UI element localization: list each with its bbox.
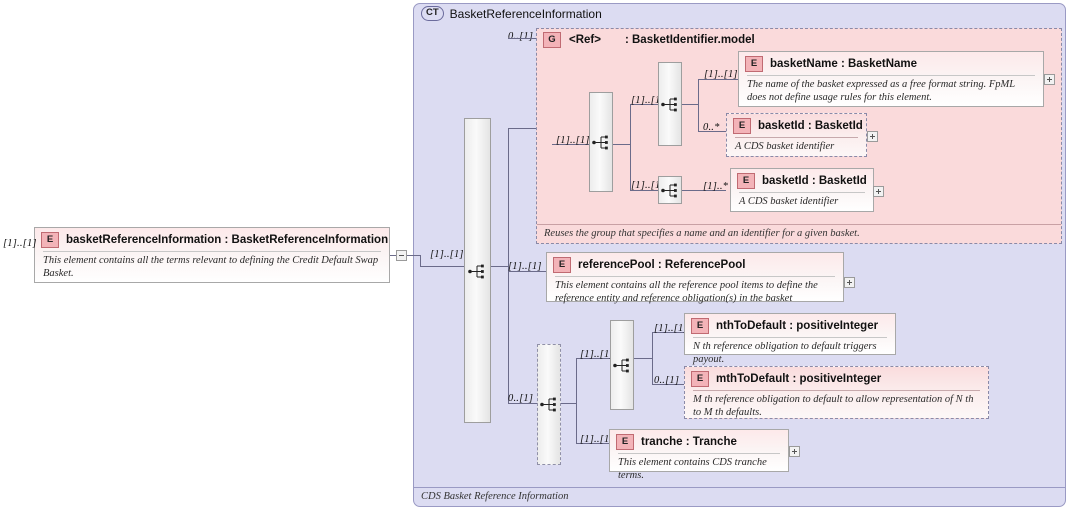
- element-reference-pool[interactable]: E referencePool : ReferencePool This ele…: [546, 252, 844, 302]
- connector-group-trunk: [630, 104, 631, 190]
- connector-choice-top-trunk: [698, 79, 699, 131]
- compositor-choice-bottom[interactable]: [658, 176, 682, 204]
- expand-toggle-tranche[interactable]: [789, 446, 800, 457]
- element-documentation: The name of the basket expressed as a fr…: [747, 75, 1035, 104]
- cardinality-group-sequence: [1]..[1]: [556, 135, 590, 146]
- element-documentation: This element contains all the terms rele…: [43, 251, 381, 280]
- element-documentation: This element contains CDS tranche terms.: [618, 453, 780, 482]
- element-header-row: E basketId : BasketId: [731, 169, 873, 192]
- element-badge-icon: E: [737, 173, 755, 189]
- sequence-icon: [661, 183, 680, 198]
- element-header-row: E mthToDefault : positiveInteger: [685, 367, 988, 390]
- element-basket-id-optional[interactable]: E basketId : BasketId A CDS basket ident…: [726, 113, 867, 157]
- sequence-icon: [613, 358, 632, 373]
- connector-into-main-sequence: [420, 266, 465, 267]
- compositor-group-sequence[interactable]: [589, 92, 613, 192]
- connector-tail-choice-out: [561, 403, 576, 404]
- element-name: tranche : Tranche: [641, 436, 737, 448]
- element-documentation: M th reference obligation to default to …: [693, 390, 980, 419]
- connector-tail-trunk: [576, 358, 577, 443]
- element-header-row: E basketReferenceInformation : BasketRef…: [35, 228, 389, 251]
- element-badge-icon: E: [691, 371, 709, 387]
- complex-type-footer-text: CDS Basket Reference Information: [421, 491, 568, 502]
- complex-type-footer: CDS Basket Reference Information: [414, 487, 1065, 506]
- element-documentation: N th reference obligation to default tri…: [693, 337, 887, 366]
- expand-toggle-basket-id-optional[interactable]: [867, 131, 878, 142]
- connector-choice-top-out: [682, 104, 698, 105]
- group-badge-icon: G: [543, 32, 561, 48]
- element-header-row: E basketId : BasketId: [727, 114, 866, 137]
- element-name: basketId : BasketId: [758, 120, 863, 132]
- connector-main-out: [491, 266, 508, 267]
- compositor-tail-choice[interactable]: [537, 344, 561, 465]
- connector-root-right: [390, 255, 396, 256]
- element-name: basketName : BasketName: [770, 58, 917, 70]
- compositor-choice-top[interactable]: [658, 62, 682, 146]
- element-documentation: A CDS basket identifier: [739, 192, 865, 209]
- connector-group-top: [508, 38, 536, 39]
- element-name: basketReferenceInformation : BasketRefer…: [66, 234, 388, 246]
- cardinality-main-sequence: [1]..[1]: [430, 249, 464, 260]
- cardinality-tail-choice: 0..[1]: [508, 393, 533, 404]
- cardinality-basket-name: [1]..[1]: [704, 69, 738, 80]
- group-type-label: : BasketIdentifier.model: [625, 34, 755, 46]
- element-header-row: E referencePool : ReferencePool: [547, 253, 843, 276]
- group-ref-header: G <Ref> : BasketIdentifier.model: [543, 32, 755, 48]
- element-nth-to-default[interactable]: E nthToDefault : positiveInteger N th re…: [684, 313, 896, 355]
- cardinality-group: 0..[1]: [508, 31, 533, 42]
- group-footer: Reuses the group that specifies a name a…: [537, 224, 1061, 243]
- xsd-diagram-canvas: CT BasketReferenceInformation CDS Basket…: [0, 0, 1070, 510]
- collapse-toggle-root[interactable]: [396, 250, 407, 261]
- element-mth-to-default[interactable]: E mthToDefault : positiveInteger M th re…: [684, 366, 989, 419]
- element-header-row: E basketName : BasketName: [739, 52, 1043, 75]
- cardinality-nth-to-default: [1]..[1]: [654, 323, 688, 334]
- element-header-row: E tranche : Tranche: [610, 430, 788, 453]
- compositor-nth-sequence[interactable]: [610, 320, 634, 410]
- element-badge-icon: E: [745, 56, 763, 72]
- element-name: basketId : BasketId: [762, 175, 867, 187]
- connector-nth-trunk: [652, 332, 653, 384]
- element-tranche[interactable]: E tranche : Tranche This element contain…: [609, 429, 789, 472]
- connector-root-bend: [420, 255, 421, 267]
- expand-toggle-basket-name[interactable]: [1044, 74, 1055, 85]
- element-name: mthToDefault : positiveInteger: [716, 373, 881, 385]
- complex-type-header: CT BasketReferenceInformation: [421, 6, 602, 21]
- element-badge-icon: E: [691, 318, 709, 334]
- complex-type-title: BasketReferenceInformation: [450, 7, 602, 21]
- element-badge-icon: E: [733, 118, 751, 134]
- element-basket-reference-information[interactable]: E basketReferenceInformation : BasketRef…: [34, 227, 390, 283]
- element-name: nthToDefault : positiveInteger: [716, 320, 878, 332]
- cardinality-root: [1]..[1]: [3, 238, 37, 249]
- cardinality-basket-id-required: [1]..*: [703, 181, 728, 192]
- connector-to-group: [508, 128, 536, 129]
- element-badge-icon: E: [616, 434, 634, 450]
- sequence-icon: [468, 264, 487, 279]
- element-documentation: A CDS basket identifier: [735, 137, 858, 154]
- sequence-icon: [592, 135, 611, 150]
- cardinality-reference-pool: [1]..[1]: [508, 261, 542, 272]
- element-badge-icon: E: [41, 232, 59, 248]
- expand-toggle-basket-id-required[interactable]: [873, 186, 884, 197]
- element-basket-id-required[interactable]: E basketId : BasketId A CDS basket ident…: [730, 168, 874, 212]
- group-footer-text: Reuses the group that specifies a name a…: [544, 228, 860, 239]
- expand-toggle-reference-pool[interactable]: [844, 277, 855, 288]
- cardinality-mth-to-default: 0..[1]: [654, 375, 679, 386]
- compositor-main-sequence[interactable]: [464, 118, 491, 423]
- cardinality-nth-sequence: [1]..[1]: [580, 349, 614, 360]
- sequence-icon: [540, 397, 559, 412]
- cardinality-basket-id-optional: 0..*: [703, 122, 720, 133]
- element-basket-name[interactable]: E basketName : BasketName The name of th…: [738, 51, 1044, 107]
- connector-root-into-ct: [407, 255, 420, 256]
- element-name: referencePool : ReferencePool: [578, 259, 745, 271]
- element-documentation: This element contains all the reference …: [555, 276, 835, 305]
- complextype-badge-icon: CT: [421, 6, 444, 21]
- connector-nth-sequence-out: [634, 358, 652, 359]
- connector-group-sequence-out: [613, 144, 630, 145]
- element-badge-icon: E: [553, 257, 571, 273]
- group-ref-label: <Ref>: [569, 34, 601, 46]
- element-header-row: E nthToDefault : positiveInteger: [685, 314, 895, 337]
- sequence-icon: [661, 97, 680, 112]
